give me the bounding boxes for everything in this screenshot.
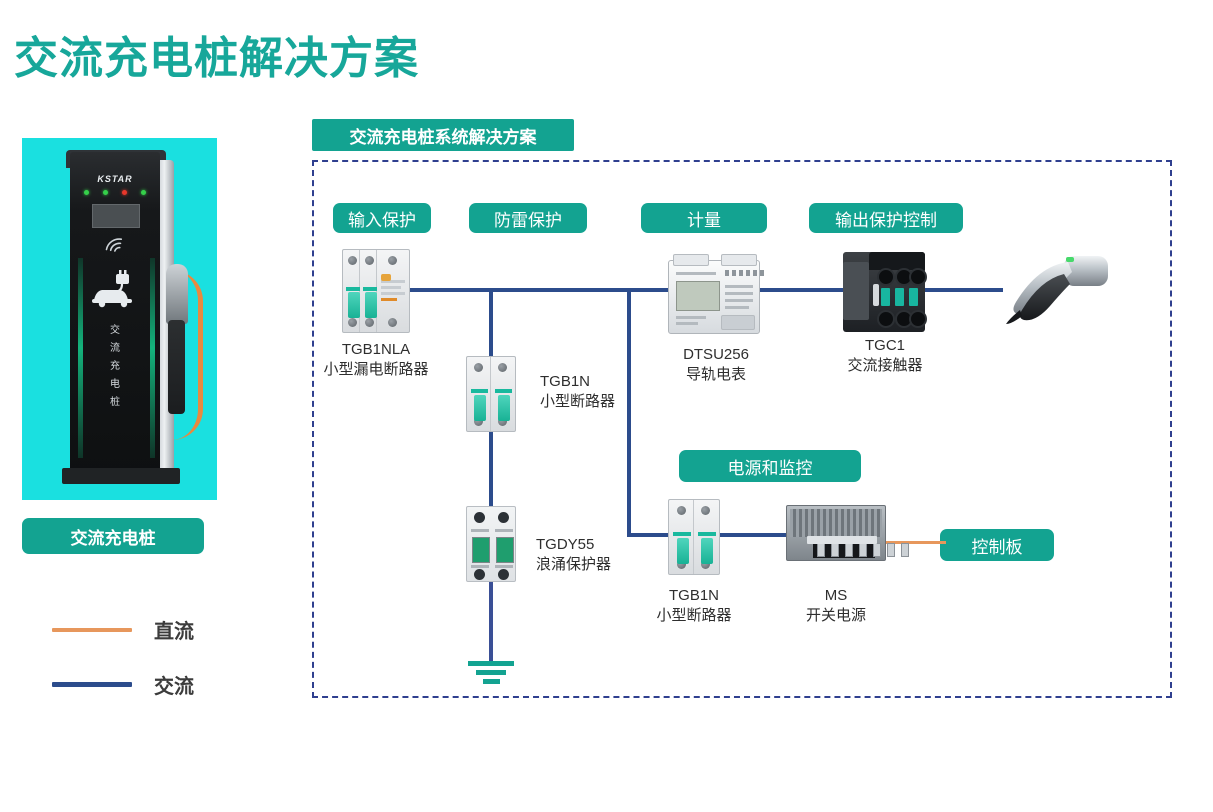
device-model-tgdy55: TGDY55 <box>536 535 658 555</box>
led-green-icon <box>103 190 108 195</box>
device-name-tgb1n-upper: 小型断路器 <box>540 392 658 412</box>
ev-car-svg <box>84 266 146 310</box>
pile-front-body <box>70 152 160 484</box>
product-caption-banner: 交流充电桩 <box>22 518 204 554</box>
ground-symbol-bar-2 <box>476 670 506 675</box>
line-swatch-dc-icon <box>52 628 132 632</box>
line-swatch-ac-icon <box>52 682 132 687</box>
ev-connector-gun-icon <box>990 252 1110 332</box>
pile-light-strip-right <box>150 258 155 458</box>
led-green-icon <box>141 190 146 195</box>
device-rcbo-icon <box>342 249 410 333</box>
device-model-tgc1: TGC1 <box>824 336 946 356</box>
wire-ac-branch-psu-vertical <box>627 288 631 537</box>
category-input-protection: 输入保护 <box>333 203 431 233</box>
pile-brand-logo: KSTAR <box>70 174 160 184</box>
legend-item-ac: 交流 <box>52 670 194 699</box>
category-lightning-protection: 防雷保护 <box>469 203 587 233</box>
device-name-tgb1nla: 小型漏电断路器 <box>286 360 466 380</box>
ground-symbol-bar-1 <box>468 661 514 666</box>
pile-light-strip-left <box>78 258 83 458</box>
pile-vertical-label: 交流充电桩 <box>90 322 140 412</box>
device-contactor-icon <box>843 252 925 332</box>
device-name-tgb1n-lower: 小型断路器 <box>614 606 774 626</box>
category-output-protection-control: 输出保护控制 <box>809 203 963 233</box>
device-model-ms: MS <box>778 586 894 606</box>
ev-gun-svg <box>990 252 1110 332</box>
device-name-tgdy55: 浪涌保护器 <box>536 555 658 575</box>
wire-ac-meter-to-contactor <box>757 288 845 292</box>
category-power-and-monitoring: 电源和监控 <box>679 450 861 482</box>
device-label-mcb-upper: TGB1N 小型断路器 <box>478 372 658 412</box>
device-label-meter: DTSU256 导轨电表 <box>636 345 796 385</box>
category-metering: 计量 <box>641 203 767 233</box>
device-model-tgb1nla: TGB1NLA <box>286 340 466 360</box>
device-model-dtsu256: DTSU256 <box>636 345 796 365</box>
device-label-surge-protector: TGDY55 浪涌保护器 <box>478 535 658 575</box>
rfid-wave-icon <box>90 234 140 258</box>
device-name-ms: 开关电源 <box>778 606 894 626</box>
legend-label-dc: 直流 <box>154 615 194 644</box>
device-din-rail-meter-icon <box>668 252 760 334</box>
device-mcb-lower-icon <box>668 499 720 575</box>
diagram-banner: 交流充电桩系统解决方案 <box>312 119 574 151</box>
device-name-tgc1: 交流接触器 <box>824 356 946 376</box>
device-label-mcb-lower: TGB1N 小型断路器 <box>614 586 774 626</box>
pile-display-screen <box>92 204 140 228</box>
pile-led-indicators <box>84 190 146 195</box>
device-name-dtsu256: 导轨电表 <box>636 365 796 385</box>
device-label-power-supply: MS 开关电源 <box>778 586 894 626</box>
legend-label-ac: 交流 <box>154 670 194 699</box>
device-label-rcbo: TGB1NLA 小型漏电断路器 <box>286 340 466 380</box>
rfid-wave-svg <box>90 234 140 258</box>
diagram-page: 交流充电桩解决方案 KSTAR <box>0 0 1213 812</box>
ev-charging-car-icon <box>84 266 146 310</box>
page-title: 交流充电桩解决方案 <box>14 22 419 86</box>
device-label-contactor: TGC1 交流接触器 <box>824 336 946 376</box>
product-photo-charging-pile: KSTAR <box>22 138 217 500</box>
wire-ac-mcb-to-psu <box>720 533 788 537</box>
category-control-board: 控制板 <box>940 529 1054 561</box>
charging-gun-grip <box>168 320 185 414</box>
wire-ac-branch-spd-mid <box>489 430 493 506</box>
led-red-icon <box>122 190 127 195</box>
wire-ground-drop <box>489 580 493 661</box>
legend-item-dc: 直流 <box>52 615 194 644</box>
ground-symbol-bar-3 <box>483 679 500 684</box>
device-model-tgb1n-lower: TGB1N <box>614 586 774 606</box>
led-green-icon <box>84 190 89 195</box>
pile-base-plate <box>62 468 180 484</box>
wire-ac-branch-spd-top <box>489 288 493 358</box>
device-power-supply-icon <box>786 505 886 567</box>
charging-gun-head <box>166 264 188 324</box>
